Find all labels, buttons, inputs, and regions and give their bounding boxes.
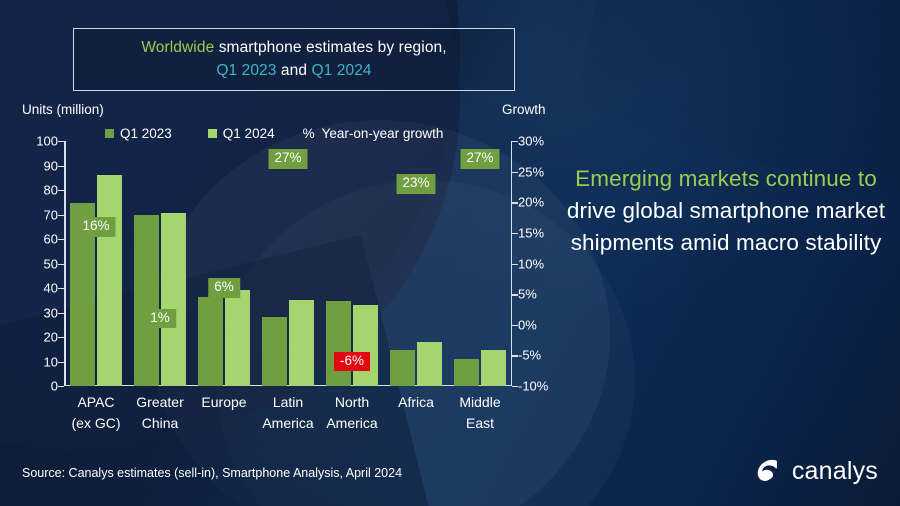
growth-label: 23% <box>396 174 435 194</box>
y-axis-right-tick-label: -5% <box>518 348 568 363</box>
legend-item-q1-2024[interactable]: Q1 2024 <box>208 126 275 141</box>
y-axis-right-tick-label: 30% <box>518 134 568 149</box>
x-axis-category-label: Africa <box>398 392 434 413</box>
x-axis-category-label: Europe <box>201 392 246 413</box>
canalys-swirl-icon <box>753 456 783 486</box>
x-axis-category-line: Middle <box>459 392 500 413</box>
x-axis-category-labels: APAC(ex GC)GreaterChinaEuropeLatinAmeric… <box>64 392 512 454</box>
y-axis-left-tick-label: 20 <box>12 330 58 345</box>
x-axis-category-line: Greater <box>136 392 183 413</box>
y-axis-left-tick-label: 0 <box>12 379 58 394</box>
x-axis-category-label: NorthAmerica <box>326 392 377 434</box>
y-axis-left-tick <box>58 239 64 240</box>
y-axis-right-tick <box>512 294 518 295</box>
y-axis-right-tick <box>512 172 518 173</box>
y-axis-left-tick-label: 100 <box>12 134 58 149</box>
y-axis-left-labels: 0102030405060708090100 <box>12 141 58 386</box>
x-axis-category-line: America <box>326 413 377 434</box>
chart-title-line-1: Worldwide smartphone estimates by region… <box>141 37 446 59</box>
y-axis-right-tick <box>512 264 518 265</box>
x-axis-category-label: LatinAmerica <box>262 392 313 434</box>
legend-label-growth: Year-on-year growth <box>322 126 444 141</box>
canalys-logo-text: canalys <box>792 457 878 486</box>
y-axis-left-tick-label: 70 <box>12 207 58 222</box>
y-axis-right-tick-label: 5% <box>518 287 568 302</box>
y-axis-right-tick-label: 25% <box>518 164 568 179</box>
x-axis-category-line: America <box>262 413 313 434</box>
y-axis-left-tick <box>58 288 64 289</box>
y-axis-right-tick <box>512 141 518 142</box>
y-axis-right-tick-label: 10% <box>518 256 568 271</box>
chart-title-line-2: Q1 2023 and Q1 2024 <box>216 60 371 82</box>
growth-label: 16% <box>76 217 115 237</box>
chart-title-box: Worldwide smartphone estimates by region… <box>73 28 515 91</box>
y-axis-left-tick-label: 90 <box>12 158 58 173</box>
bar-group <box>64 141 512 386</box>
y-axis-right-tick <box>512 233 518 234</box>
left-axis-caption: Units (million) <box>22 102 104 117</box>
bar-q1-2024[interactable] <box>481 350 506 386</box>
y-axis-right-tick <box>512 386 518 387</box>
y-axis-right-tick-label: -10% <box>518 379 568 394</box>
y-axis-left-tick <box>58 362 64 363</box>
headline-green-part: Emerging markets continue to <box>575 166 877 191</box>
y-axis-left-tick <box>58 386 64 387</box>
x-axis-category-line: North <box>326 392 377 413</box>
y-axis-right-tick <box>512 325 518 326</box>
bar-q1-2023[interactable] <box>454 359 479 386</box>
y-axis-right-tick-label: 20% <box>518 195 568 210</box>
x-axis-category-line: Latin <box>262 392 313 413</box>
x-axis-category-line: East <box>459 413 500 434</box>
headline-white-part: drive global smartphone market shipments… <box>567 198 885 255</box>
growth-label: 27% <box>460 149 499 169</box>
chart-plot-area: 0102030405060708090100 -10%-5%0%5%10%15%… <box>64 141 512 386</box>
x-axis-category-line: (ex GC) <box>72 413 121 434</box>
y-axis-left-tick-label: 10 <box>12 354 58 369</box>
y-axis-right-tick-label: 0% <box>518 317 568 332</box>
growth-label: 1% <box>144 309 176 329</box>
y-axis-right-tick <box>512 202 518 203</box>
y-axis-left-tick <box>58 313 64 314</box>
x-axis-category-line: APAC <box>72 392 121 413</box>
source-note: Source: Canalys estimates (sell-in), Sma… <box>22 466 402 480</box>
growth-label: 27% <box>268 149 307 169</box>
growth-label: 6% <box>208 278 240 298</box>
y-axis-left-tick <box>58 190 64 191</box>
y-axis-right-tick-label: 15% <box>518 225 568 240</box>
y-axis-left-tick-label: 50 <box>12 256 58 271</box>
y-axis-left-tick-label: 40 <box>12 281 58 296</box>
growth-label: -6% <box>334 352 370 372</box>
y-axis-left-tick <box>58 141 64 142</box>
x-axis-category-line: China <box>136 413 183 434</box>
y-axis-left-tick <box>58 166 64 167</box>
chart-legend: Q1 2023 Q1 2024 % Year-on-year growth <box>105 126 443 141</box>
legend-swatch-icon-q1-2024 <box>208 129 217 138</box>
x-axis-category-label: GreaterChina <box>136 392 183 434</box>
legend-percent-symbol: % <box>303 126 315 141</box>
x-axis-category-line: Africa <box>398 392 434 413</box>
x-axis-category-label: MiddleEast <box>459 392 500 434</box>
y-axis-left-tick-label: 30 <box>12 305 58 320</box>
legend-item-q1-2023[interactable]: Q1 2023 <box>105 126 172 141</box>
bar-series-container: 16%1%6%27%-6%23%27% <box>64 141 512 386</box>
legend-swatch-icon-q1-2023 <box>105 129 114 138</box>
y-axis-right-labels: -10%-5%0%5%10%15%20%25%30% <box>518 141 568 386</box>
y-axis-right-tick <box>512 355 518 356</box>
y-axis-left-tick-label: 80 <box>12 183 58 198</box>
y-axis-left-tick <box>58 337 64 338</box>
right-axis-caption: Growth <box>502 102 546 117</box>
y-axis-left-tick-label: 60 <box>12 232 58 247</box>
y-axis-left-tick <box>58 264 64 265</box>
canalys-logo: canalys <box>753 456 878 486</box>
legend-label-q1-2024: Q1 2024 <box>223 126 275 141</box>
x-axis-category-line: Europe <box>201 392 246 413</box>
legend-label-q1-2023: Q1 2023 <box>120 126 172 141</box>
y-axis-left-tick <box>58 215 64 216</box>
x-axis-category-label: APAC(ex GC) <box>72 392 121 434</box>
slide-canvas: Worldwide smartphone estimates by region… <box>0 0 900 506</box>
headline-text: Emerging markets continue to drive globa… <box>566 163 886 259</box>
